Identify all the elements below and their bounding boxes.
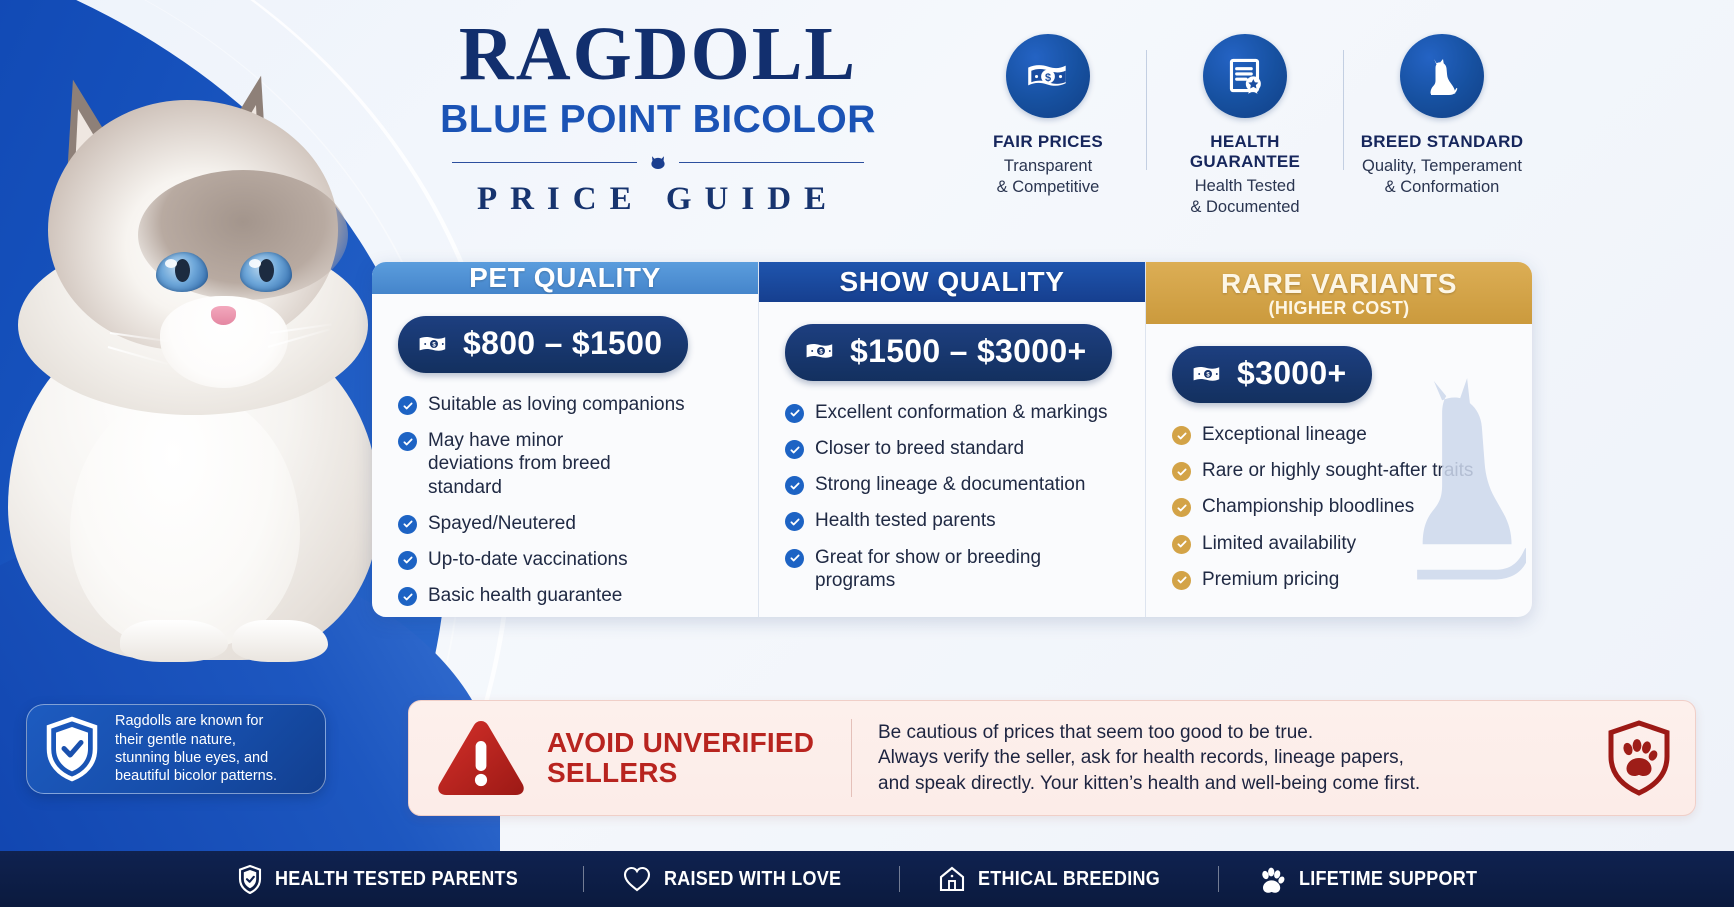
column-header-title: PET QUALITY xyxy=(469,262,661,294)
warning-divider xyxy=(851,719,852,797)
badge-desc: Quality, Temperament & Conformation xyxy=(1350,156,1534,198)
list-item: Exceptional lineage xyxy=(1172,423,1512,446)
info-line: Ragdolls are known for xyxy=(115,712,277,730)
column-body: $ $3000+ Exceptional lineage Rare or hig… xyxy=(1146,324,1532,617)
title-block: RAGDOLL BLUE POINT BICOLOR PRICE GUIDE xyxy=(398,16,918,218)
badge-title: BREED STANDARD xyxy=(1350,132,1534,152)
feature-text: Championship bloodlines xyxy=(1202,495,1414,518)
feature-list: Suitable as loving companions May have m… xyxy=(398,393,738,607)
list-item: Limited availability xyxy=(1172,532,1512,555)
paw-icon xyxy=(1257,864,1287,894)
footer-bar: HEALTH TESTED PARENTS RAISED WITH LOVE E… xyxy=(0,851,1734,907)
badge-icon-circle xyxy=(1203,34,1287,118)
badge-desc-line: & Documented xyxy=(1153,197,1337,218)
list-item: Suitable as loving companions xyxy=(398,393,738,416)
feature-text: Excellent conformation & markings xyxy=(815,401,1108,424)
badge-desc-line: Transparent xyxy=(956,156,1140,177)
check-circle-icon xyxy=(398,515,417,534)
badge-title: FAIR PRICES xyxy=(956,132,1140,152)
list-item: Strong lineage & documentation xyxy=(785,473,1125,496)
list-item: Rare or highly sought-after traits xyxy=(1172,459,1512,482)
check-circle-icon xyxy=(785,512,804,531)
svg-text:$: $ xyxy=(1045,72,1051,84)
list-item: Great for show or breeding programs xyxy=(785,546,1125,592)
heart-icon xyxy=(622,865,652,893)
trust-badges: $ FAIR PRICES Transparent & Competitive xyxy=(950,34,1540,218)
warning-title-line: SELLERS xyxy=(547,758,814,788)
warning-triangle-icon xyxy=(435,716,527,800)
feature-list: Excellent conformation & markings Closer… xyxy=(785,401,1125,592)
badge-breed-standard: BREED STANDARD Quality, Temperament & Co… xyxy=(1344,34,1540,198)
warning-body-line: and speak directly. Your kitten’s health… xyxy=(878,771,1585,796)
footer-item-raised-with-love: RAISED WITH LOVE xyxy=(584,865,899,893)
feature-text: Rare or highly sought-after traits xyxy=(1202,459,1473,482)
money-bill-icon: $ xyxy=(418,333,450,355)
info-line: beautiful bicolor patterns. xyxy=(115,767,277,785)
breed-info-callout: Ragdolls are known for their gentle natu… xyxy=(26,704,326,794)
ragdoll-cat-photo xyxy=(0,60,400,670)
warning-body-line: Always verify the seller, ask for health… xyxy=(878,745,1585,770)
shield-check-icon xyxy=(237,864,263,894)
price-value: $3000+ xyxy=(1237,355,1346,392)
cat-head xyxy=(48,100,338,350)
feature-text: Great for show or breeding programs xyxy=(815,546,1125,592)
cat-pupil-left xyxy=(175,259,190,282)
cat-head-icon xyxy=(649,154,667,171)
feature-text: Basic health guarantee xyxy=(428,584,622,607)
footer-item-ethical-breeding: ETHICAL BREEDING xyxy=(900,865,1218,893)
cat-pupil-right xyxy=(259,259,274,282)
check-circle-icon xyxy=(398,396,417,415)
sitting-cat-icon xyxy=(1418,52,1466,100)
warning-banner: AVOID UNVERIFIED SELLERS Be cautious of … xyxy=(408,700,1696,816)
divider-line-left xyxy=(452,162,637,163)
warning-body: Be cautious of prices that seem too good… xyxy=(878,720,1585,796)
check-circle-icon xyxy=(398,587,417,606)
money-bill-icon: $ xyxy=(1023,51,1073,101)
badge-icon-circle xyxy=(1400,34,1484,118)
money-bill-icon: $ xyxy=(805,340,837,362)
footer-item-label: RAISED WITH LOVE xyxy=(664,868,841,891)
pricing-table: PET QUALITY $ $800 – $1500 xyxy=(372,262,1532,617)
check-circle-icon xyxy=(785,404,804,423)
house-icon xyxy=(938,865,966,893)
feature-text: Closer to breed standard xyxy=(815,437,1024,460)
check-circle-icon xyxy=(1172,462,1191,481)
list-item: Up-to-date vaccinations xyxy=(398,548,738,571)
list-item: Excellent conformation & markings xyxy=(785,401,1125,424)
pricing-column-show-quality: SHOW QUALITY $ $1500 – $3000+ xyxy=(758,262,1145,617)
list-item: May have minor deviations from breed sta… xyxy=(398,429,738,499)
info-line: stunning blue eyes, and xyxy=(115,749,277,767)
cat-paw-left xyxy=(120,620,228,662)
badge-desc-line: Quality, Temperament xyxy=(1350,156,1534,177)
feature-list: Exceptional lineage Rare or highly sough… xyxy=(1172,423,1512,591)
divider-line-right xyxy=(679,162,864,163)
infographic-poster: RAGDOLL BLUE POINT BICOLOR PRICE GUIDE $ xyxy=(0,0,1734,907)
feature-text: Spayed/Neutered xyxy=(428,512,576,535)
badge-desc-line: & Conformation xyxy=(1350,177,1534,198)
price-guide-label: PRICE GUIDE xyxy=(398,181,918,218)
footer-item-label: ETHICAL BREEDING xyxy=(978,868,1160,891)
badge-desc-line: & Competitive xyxy=(956,177,1140,198)
footer-item-label: HEALTH TESTED PARENTS xyxy=(275,868,518,891)
cat-eye-glint-right xyxy=(249,259,261,268)
badge-desc: Transparent & Competitive xyxy=(956,156,1140,198)
check-circle-icon xyxy=(1172,426,1191,445)
breed-info-text: Ragdolls are known for their gentle natu… xyxy=(115,712,277,786)
footer-item-lifetime-support: LIFETIME SUPPORT xyxy=(1219,864,1535,894)
check-circle-icon xyxy=(785,549,804,568)
feature-text: Strong lineage & documentation xyxy=(815,473,1085,496)
column-body: $ $1500 – $3000+ Excellent conformation … xyxy=(759,302,1145,617)
check-circle-icon xyxy=(398,551,417,570)
price-badge: $ $800 – $1500 xyxy=(398,316,688,373)
badge-desc-line: Health Tested xyxy=(1153,176,1337,197)
price-badge: $ $1500 – $3000+ xyxy=(785,324,1112,381)
list-item: Closer to breed standard xyxy=(785,437,1125,460)
feature-text: Health tested parents xyxy=(815,509,996,532)
badge-desc: Health Tested & Documented xyxy=(1153,176,1337,218)
feature-text: Limited availability xyxy=(1202,532,1356,555)
check-circle-icon xyxy=(785,476,804,495)
check-circle-icon xyxy=(785,440,804,459)
page-subtitle: BLUE POINT BICOLOR xyxy=(398,98,918,142)
cat-eye-left xyxy=(156,252,208,292)
column-header: RARE VARIANTS (HIGHER COST) xyxy=(1146,262,1532,324)
feature-text: Exceptional lineage xyxy=(1202,423,1367,446)
badge-health-guarantee: HEALTH GUARANTEE Health Tested & Documen… xyxy=(1147,34,1343,218)
cat-eye-glint-left xyxy=(165,259,177,268)
warning-heading-group: AVOID UNVERIFIED SELLERS xyxy=(435,716,845,800)
feature-text: Premium pricing xyxy=(1202,568,1339,591)
footer-item-health-tested-parents: HEALTH TESTED PARENTS xyxy=(199,864,583,894)
column-header-title: SHOW QUALITY xyxy=(840,266,1065,298)
check-circle-icon xyxy=(1172,535,1191,554)
column-header-title: RARE VARIANTS xyxy=(1221,268,1457,300)
pricing-column-pet-quality: PET QUALITY $ $800 – $1500 xyxy=(372,262,758,617)
feature-text: May have minor deviations from breed sta… xyxy=(428,429,653,499)
list-item: Basic health guarantee xyxy=(398,584,738,607)
warning-body-line: Be cautious of prices that seem too good… xyxy=(878,720,1585,745)
list-item: Health tested parents xyxy=(785,509,1125,532)
check-circle-icon xyxy=(1172,498,1191,517)
warning-title: AVOID UNVERIFIED SELLERS xyxy=(547,728,814,788)
list-item: Spayed/Neutered xyxy=(398,512,738,535)
shield-check-icon xyxy=(41,715,103,783)
feature-text: Up-to-date vaccinations xyxy=(428,548,628,571)
badge-fair-prices: $ FAIR PRICES Transparent & Competitive xyxy=(950,34,1146,198)
certificate-award-icon xyxy=(1220,51,1270,101)
cat-eye-right xyxy=(240,252,292,292)
column-header: SHOW QUALITY xyxy=(759,262,1145,302)
column-header-note: (HIGHER COST) xyxy=(1269,298,1410,319)
list-item: Premium pricing xyxy=(1172,568,1512,591)
page-title: RAGDOLL xyxy=(398,16,918,94)
cat-paw-right xyxy=(232,620,328,662)
list-item: Championship bloodlines xyxy=(1172,495,1512,518)
title-divider xyxy=(398,154,918,171)
column-body: $ $800 – $1500 Suitable as loving compan… xyxy=(372,294,758,617)
badge-title: HEALTH GUARANTEE xyxy=(1153,132,1337,172)
paw-shield-icon xyxy=(1603,719,1675,797)
pricing-column-rare-variants: RARE VARIANTS (HIGHER COST) $ xyxy=(1145,262,1532,617)
footer-item-label: LIFETIME SUPPORT xyxy=(1299,868,1477,891)
money-bill-icon: $ xyxy=(1192,363,1224,385)
check-circle-icon xyxy=(1172,571,1191,590)
warning-title-line: AVOID UNVERIFIED xyxy=(547,728,814,758)
column-header: PET QUALITY xyxy=(372,262,758,294)
price-value: $1500 – $3000+ xyxy=(850,333,1086,370)
badge-icon-circle: $ xyxy=(1006,34,1090,118)
feature-text: Suitable as loving companions xyxy=(428,393,685,416)
check-circle-icon xyxy=(398,432,417,451)
price-badge: $ $3000+ xyxy=(1172,346,1372,403)
info-line: their gentle nature, xyxy=(115,731,277,749)
price-value: $800 – $1500 xyxy=(463,325,662,362)
